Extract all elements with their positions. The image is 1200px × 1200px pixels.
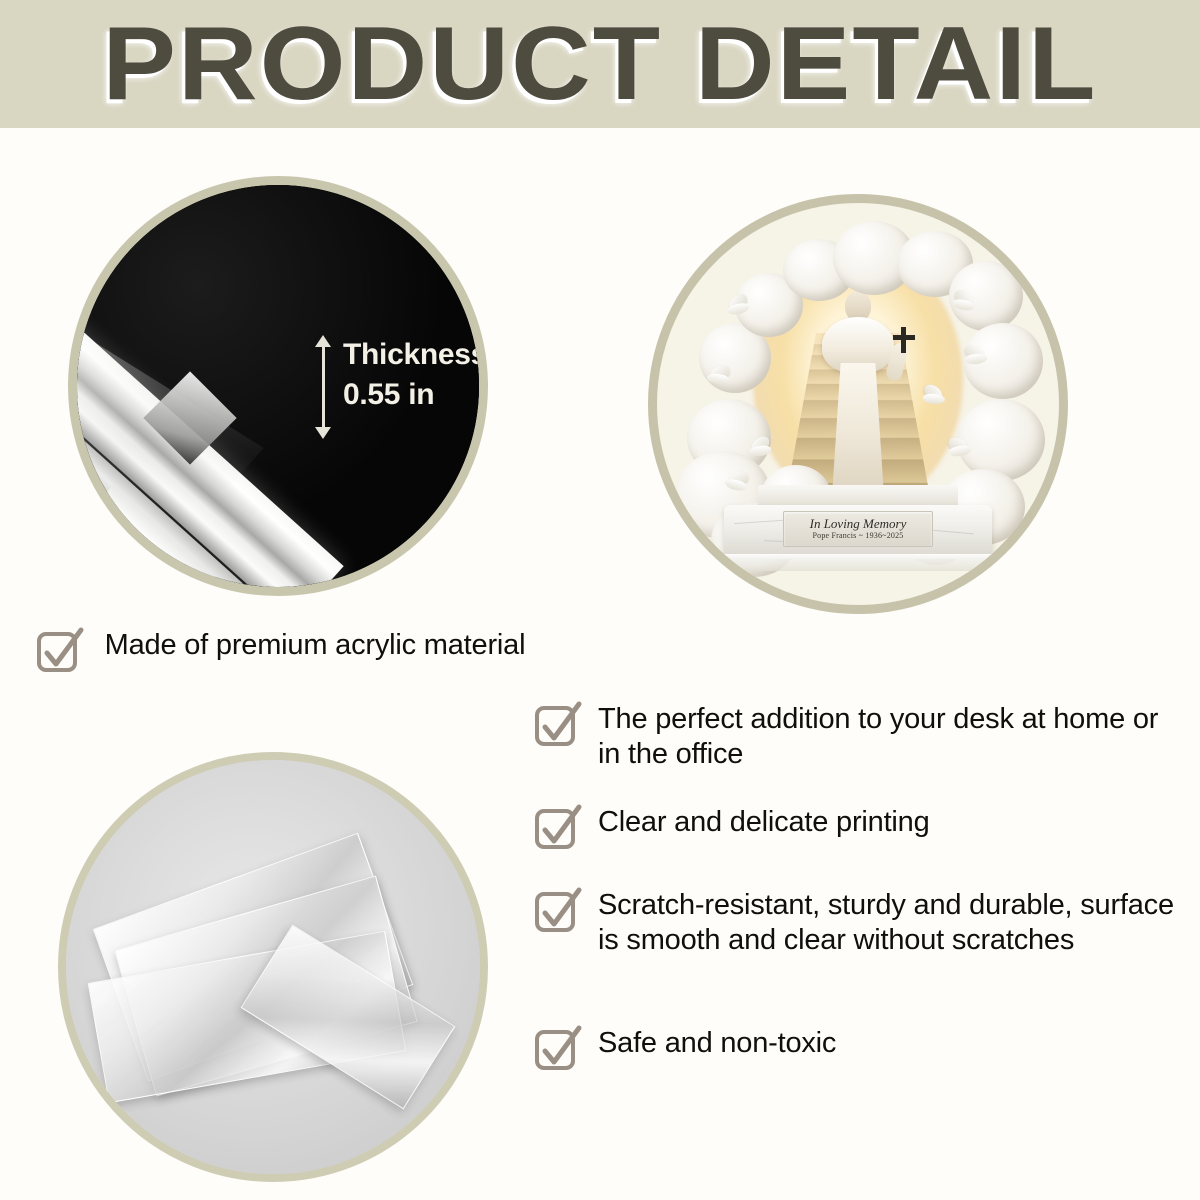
checkmark-icon: [534, 1026, 580, 1072]
feature-label: Safe and non-toxic: [598, 1026, 836, 1061]
thickness-label-line1: Thickness: [343, 335, 488, 375]
acrylic-stand: [708, 554, 1008, 571]
feature-item: The perfect addition to your desk at hom…: [534, 702, 1184, 773]
cross-icon: [893, 327, 915, 353]
feature-item: Made of premium acrylic material: [36, 628, 546, 674]
feature-item: Clear and delicate printing: [534, 805, 1184, 851]
engraved-plaque: In Loving Memory Pope Francis ~ 1936~202…: [783, 511, 933, 547]
dove: [918, 388, 949, 408]
header-band: PRODUCT DETAIL: [0, 0, 1200, 128]
feature-label: The perfect addition to your desk at hom…: [598, 702, 1184, 773]
thickness-arrow-icon: [309, 335, 339, 439]
thickness-label-line2: 0.55 in: [343, 375, 488, 415]
thickness-callout: Thickness 0.55 in: [343, 335, 488, 414]
dove: [960, 347, 992, 368]
feature-label: Made of premium acrylic material: [100, 628, 530, 663]
dove: [744, 439, 776, 460]
feature-item: Safe and non-toxic: [534, 1026, 1184, 1072]
page-title: PRODUCT DETAIL: [0, 0, 1200, 128]
pope-figure: [815, 291, 901, 509]
product-scene: In Loving Memory Pope Francis ~ 1936~202…: [657, 203, 1059, 605]
checkmark-icon: [534, 805, 580, 851]
memorial-plaque-product-image: In Loving Memory Pope Francis ~ 1936~202…: [648, 194, 1068, 614]
checkmark-icon: [36, 628, 82, 674]
marble-base: In Loving Memory Pope Francis ~ 1936~202…: [724, 505, 992, 559]
checkmark-icon: [534, 888, 580, 934]
plaque-line-2: Pope Francis ~ 1936~2025: [812, 531, 903, 541]
dove: [702, 367, 734, 389]
checkmark-icon: [534, 702, 580, 748]
plaque-line-1: In Loving Memory: [810, 517, 907, 531]
acrylic-sheets-closeup-image: [58, 752, 488, 1182]
feature-item: Scratch-resistant, sturdy and durable, s…: [534, 888, 1184, 959]
feature-label: Clear and delicate printing: [598, 805, 930, 840]
feature-label: Scratch-resistant, sturdy and durable, s…: [598, 888, 1184, 959]
acrylic-edge-closeup-image: Thickness 0.55 in: [68, 176, 488, 596]
